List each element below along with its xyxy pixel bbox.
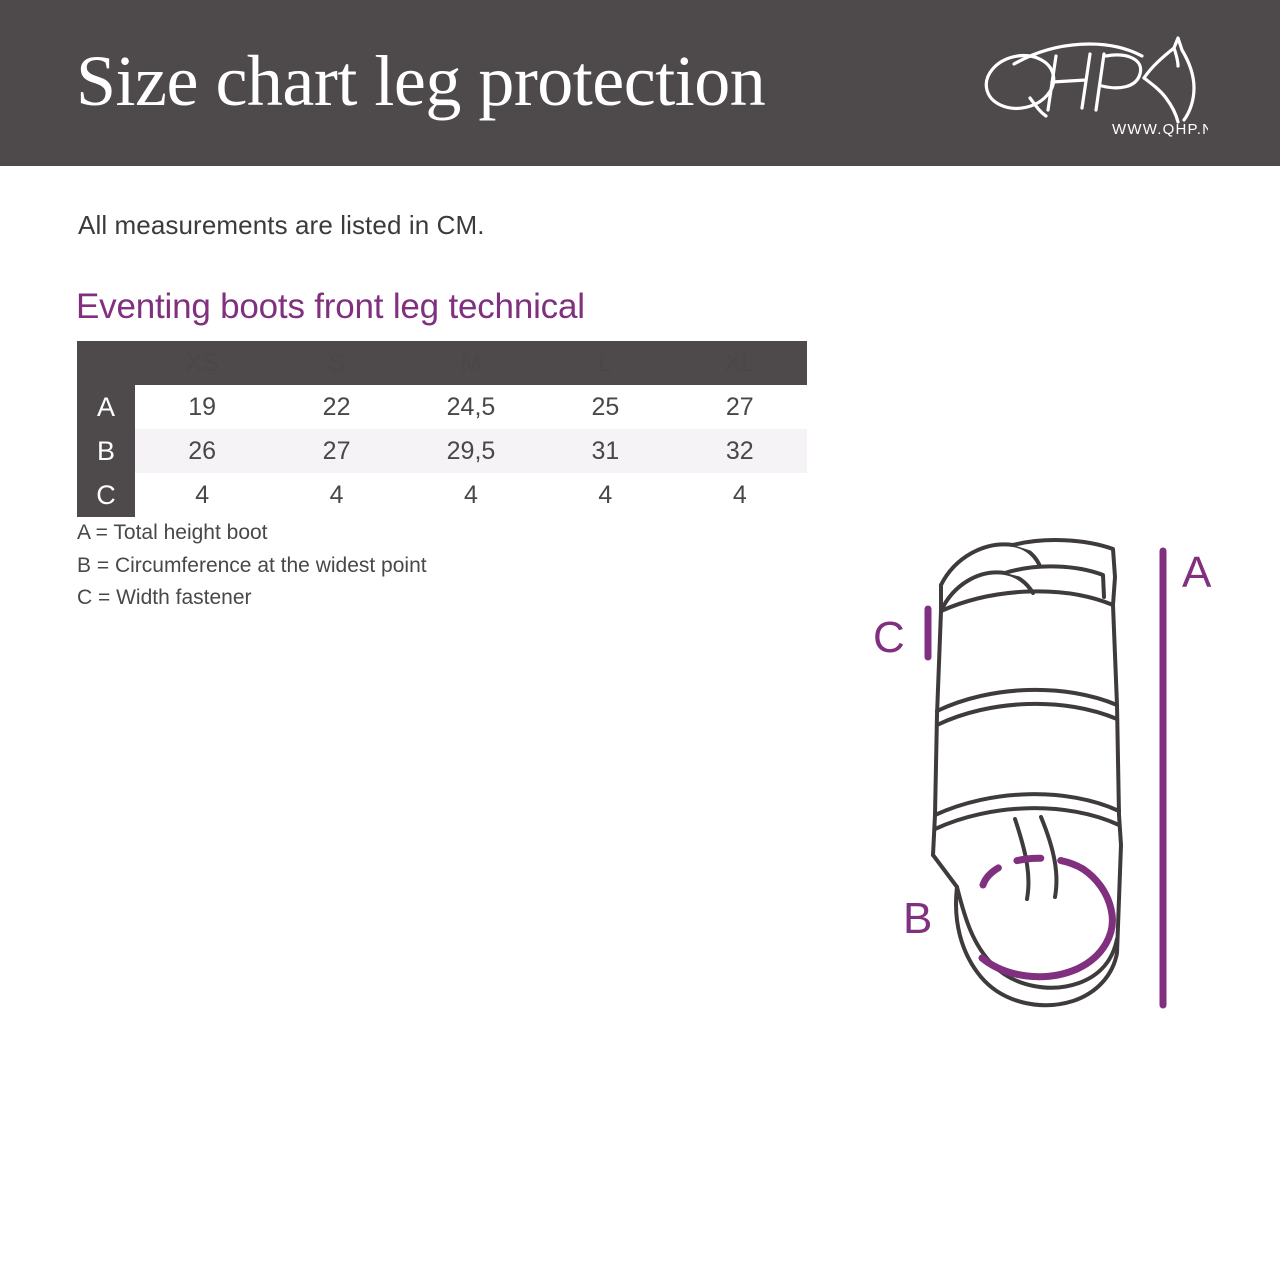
- page-header: Size chart leg protection: [0, 0, 1280, 166]
- qhp-logo: WWW.QHP.NL: [978, 34, 1208, 142]
- legend-line-c: C = Width fastener: [77, 582, 427, 615]
- measurement-ellipse-b-solid: [982, 869, 1112, 977]
- column-header-xs: XS: [135, 341, 269, 385]
- table-corner-cell: [77, 341, 135, 385]
- cell-c-xs: 4: [135, 473, 269, 517]
- measurement-label-c: C: [873, 613, 905, 662]
- measurement-label-a: A: [1182, 548, 1212, 597]
- boot-lower-inner-edge: [957, 887, 1117, 988]
- cell-a-xs: 19: [135, 385, 269, 429]
- row-header-b: B: [77, 429, 135, 473]
- size-table: XS S M L XL A 19 22 24,5 25 27 B: [77, 341, 807, 517]
- boot-diagram-svg: A C B: [845, 515, 1245, 1045]
- boot-strap-line-1b: [937, 704, 1117, 725]
- table-body: A 19 22 24,5 25 27 B 26 27 29,5 31 32 C: [77, 385, 807, 517]
- column-header-xl: XL: [673, 341, 807, 385]
- cell-a-s: 22: [269, 385, 403, 429]
- column-header-l: L: [538, 341, 672, 385]
- cell-b-xs: 26: [135, 429, 269, 473]
- table-header: XS S M L XL: [77, 341, 807, 385]
- cell-b-l: 31: [538, 429, 672, 473]
- cell-a-m: 24,5: [404, 385, 538, 429]
- column-header-m: M: [404, 341, 538, 385]
- table-row: C 4 4 4 4 4: [77, 473, 807, 517]
- measurement-ellipse-b-dashed: [983, 858, 1083, 885]
- table-header-row: XS S M L XL: [77, 341, 807, 385]
- cell-c-l: 4: [538, 473, 672, 517]
- row-header-a: A: [77, 385, 135, 429]
- size-table-container: XS S M L XL A 19 22 24,5 25 27 B: [77, 341, 807, 517]
- section-title: Eventing boots front leg technical: [76, 285, 585, 329]
- cell-b-s: 27: [269, 429, 403, 473]
- column-header-s: S: [269, 341, 403, 385]
- measurement-unit-note: All measurements are listed in CM.: [78, 208, 485, 242]
- boot-strap-line-2b: [935, 808, 1119, 829]
- boot-strap-line-1: [937, 690, 1117, 711]
- legend-line-a: A = Total height boot: [77, 517, 427, 550]
- table-row: B 26 27 29,5 31 32: [77, 429, 807, 473]
- legend-line-b: B = Circumference at the widest point: [77, 550, 427, 583]
- size-chart-page: Size chart leg protection: [0, 0, 1280, 1280]
- boot-diagram: A C B: [845, 515, 1245, 1045]
- row-header-c: C: [77, 473, 135, 517]
- cell-c-m: 4: [404, 473, 538, 517]
- page-title: Size chart leg protection: [76, 38, 765, 124]
- cell-a-l: 25: [538, 385, 672, 429]
- boot-strap-line-2: [935, 794, 1119, 815]
- boot-outline: [933, 540, 1121, 1005]
- measurement-label-b: B: [903, 894, 932, 943]
- table-row: A 19 22 24,5 25 27: [77, 385, 807, 429]
- cell-c-s: 4: [269, 473, 403, 517]
- cell-c-xl: 4: [673, 473, 807, 517]
- logo-url-text: WWW.QHP.NL: [1112, 121, 1208, 138]
- measurement-legend: A = Total height boot B = Circumference …: [77, 517, 427, 615]
- cell-a-xl: 27: [673, 385, 807, 429]
- cell-b-xl: 32: [673, 429, 807, 473]
- cell-b-m: 29,5: [404, 429, 538, 473]
- qhp-logo-svg: WWW.QHP.NL: [978, 34, 1208, 142]
